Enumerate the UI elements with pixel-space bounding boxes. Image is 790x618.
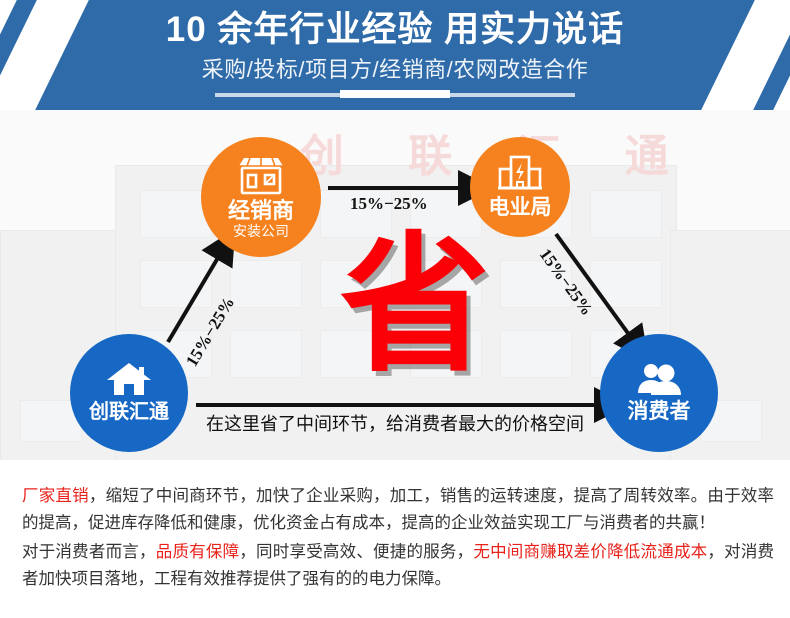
node-dealer[interactable]: 经销商 安装公司 bbox=[201, 137, 321, 257]
node-bureau[interactable]: 电业局 bbox=[470, 137, 570, 237]
node-consumer[interactable]: 消费者 bbox=[600, 334, 718, 452]
page-root: 10 余年行业经验 用实力说话 采购/投标/项目方/经销商/农网改造合作 创 联… bbox=[0, 0, 790, 618]
node-consumer-label: 消费者 bbox=[628, 400, 691, 424]
power-building-icon bbox=[496, 155, 544, 193]
node-brand-label: 创联汇通 bbox=[89, 400, 169, 424]
header-title: 10 余年行业经验 用实力说话 bbox=[0, 9, 790, 51]
paragraph-two-text-a: 对于消费者而言， bbox=[22, 543, 156, 561]
paragraph-one: 厂家直销，缩短了中间商环节，加快了企业采购，加工，销售的运转速度，提高了周转效率… bbox=[22, 483, 774, 537]
description-block: 厂家直销，缩短了中间商环节，加快了企业采购，加工，销售的运转速度，提高了周转效率… bbox=[0, 460, 790, 618]
users-icon bbox=[635, 362, 683, 396]
header-subtitle: 采购/投标/项目方/经销商/农网改造合作 bbox=[0, 56, 790, 84]
storefront-icon bbox=[234, 155, 288, 195]
header-divider-highlight bbox=[340, 90, 450, 98]
house-icon bbox=[106, 362, 152, 396]
node-dealer-label: 经销商 bbox=[228, 198, 294, 223]
paragraph-two: 对于消费者而言，品质有保障，同时享受高效、便捷的服务，无中间商赚取差价降低流通成… bbox=[22, 539, 774, 593]
node-bureau-label: 电业局 bbox=[489, 196, 552, 220]
paragraph-two-highlight-nomiddleman: 无中间商赚取差价降低流通成本 bbox=[473, 543, 707, 561]
edge-label-dealer-to-bureau: 15%−25% bbox=[350, 194, 428, 214]
node-dealer-sublabel: 安装公司 bbox=[233, 223, 289, 240]
node-brand[interactable]: 创联汇通 bbox=[70, 334, 188, 452]
paragraph-two-text-b: ，同时享受高效、便捷的服务， bbox=[239, 543, 473, 561]
paragraph-one-text: ，缩短了中间商环节，加快了企业采购，加工，销售的运转速度，提高了周转效率。由于效… bbox=[22, 487, 774, 532]
diagram-stage: 创 联 汇 通 15%−25% 15%−25% 15%−25% 在这里省了中间环… bbox=[0, 110, 790, 460]
paragraph-one-highlight: 厂家直销 bbox=[22, 487, 89, 505]
big-save-character: 省 bbox=[325, 230, 505, 380]
paragraph-two-highlight-quality: 品质有保障 bbox=[156, 543, 240, 561]
page-header: 10 余年行业经验 用实力说话 采购/投标/项目方/经销商/农网改造合作 bbox=[0, 0, 790, 110]
